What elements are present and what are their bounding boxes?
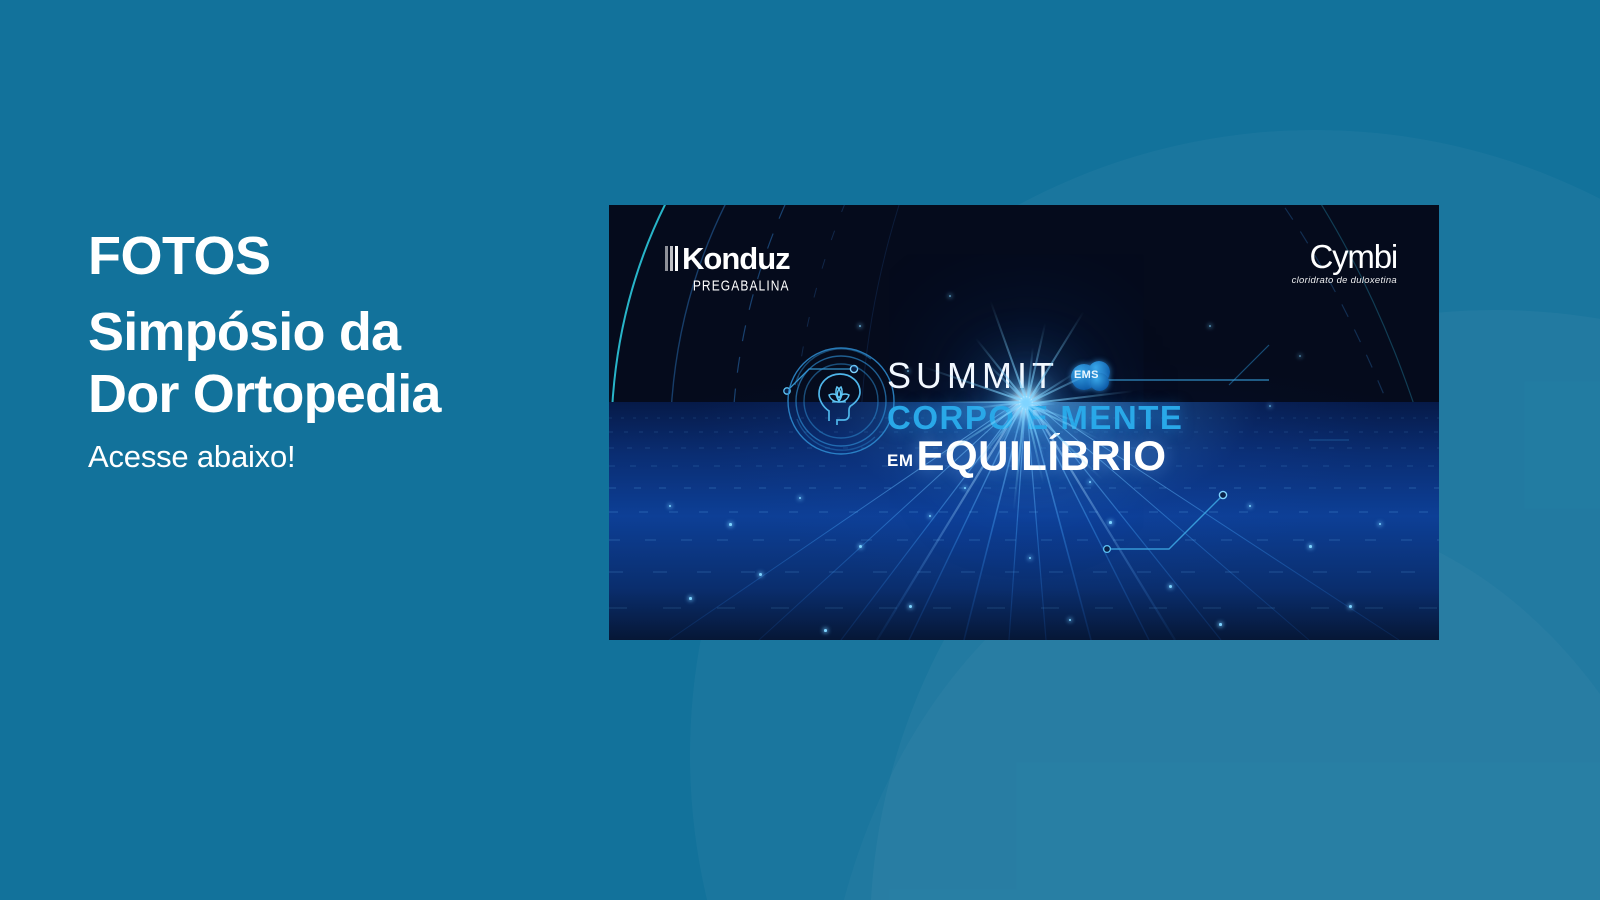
slide-canvas: FOTOS Simpósio da Dor Ortopedia Acesse a… [0,0,1600,900]
page-title: FOTOS [88,228,608,285]
cymbi-brand-name: Cymbi [1292,240,1397,273]
head-lotus-icon [785,345,897,457]
ems-logo-icon: EMS [1071,361,1111,391]
event-title-line-2: Dor Ortopedia [88,363,608,425]
cymbi-logo: Cymbi cloridrato de duloxetina [1292,240,1397,286]
cymbi-molecule-name: cloridrato de duloxetina [1292,276,1397,286]
left-text-block: FOTOS Simpósio da Dor Ortopedia Acesse a… [88,228,608,475]
event-title-line-1: Simpósio da [88,301,608,363]
call-to-action-text: Acesse abaixo! [88,439,608,475]
konduz-bars-icon [665,246,678,271]
ems-logo-text: EMS [1074,369,1099,381]
konduz-brand-name: Konduz [682,243,790,274]
tagline-small-word: EM [887,451,914,471]
konduz-logo: Konduz PREGABALINA [665,243,790,290]
konduz-molecule-name: PREGABALINA [665,278,790,293]
light-burst-ray [944,401,1026,403]
event-banner-image[interactable]: Konduz PREGABALINA Cymbi cloridrato de d… [609,205,1439,640]
tagline-main-row: EM EQUILÍBRIO [887,435,1287,477]
